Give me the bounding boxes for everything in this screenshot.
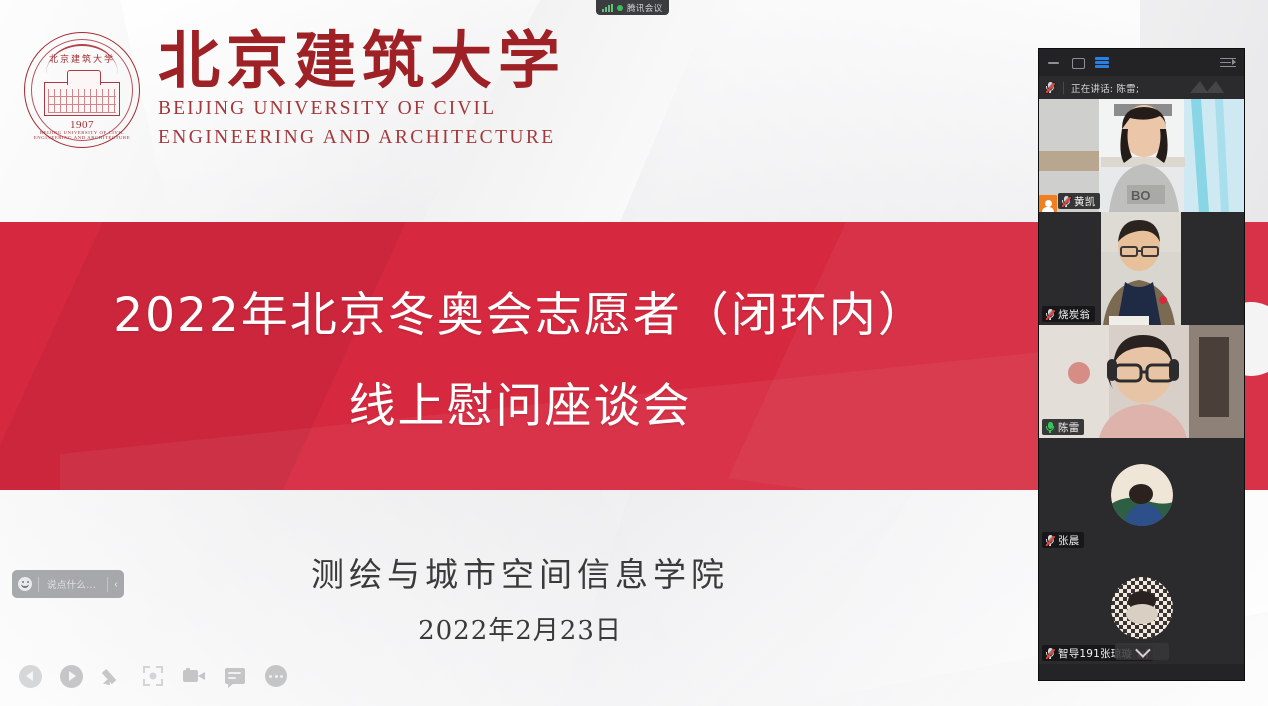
participant-tile-list[interactable]: BO 黄凯 — [1039, 99, 1244, 680]
slide-footer-block: 测绘与城市空间信息学院 2022年2月23日 — [0, 548, 1040, 647]
participant-name: 陈雷 — [1058, 420, 1079, 435]
divider — [1063, 82, 1064, 94]
pen-icon — [102, 666, 122, 686]
signal-bars-icon — [602, 4, 613, 12]
wordmark-en-line2: ENGINEERING AND ARCHITECTURE — [158, 126, 566, 151]
screen-root: 北京建筑大学 1907 BEIJING UNIVERSITY OF CIVIL … — [0, 0, 1268, 706]
minimize-icon[interactable] — [1047, 56, 1060, 69]
participant-tile[interactable]: 张晨 — [1039, 438, 1244, 551]
laser-focus-button[interactable] — [141, 664, 165, 688]
host-badge — [1039, 195, 1057, 212]
more-options-button[interactable] — [264, 664, 288, 688]
crest-en-text: BEIJING UNIVERSITY OF CIVIL ENGINEERING … — [21, 130, 143, 140]
slide-footer-date: 2022年2月23日 — [418, 610, 622, 647]
mic-muted-icon — [1045, 308, 1055, 320]
app-badge-label: 腾讯会议 — [627, 2, 663, 14]
meeting-panel: 正在讲话: 陈雷; — [1039, 49, 1244, 680]
university-crest-icon: 北京建筑大学 1907 BEIJING UNIVERSITY OF CIVIL … — [22, 30, 142, 150]
mic-muted-icon — [1045, 647, 1055, 659]
chat-button[interactable] — [223, 664, 247, 688]
participant-name: 烧炭翁 — [1058, 307, 1090, 322]
chat-input-placeholder[interactable]: 说点什么... — [39, 577, 107, 591]
meeting-panel-titlebar — [1039, 49, 1244, 76]
university-wordmark: 北京建筑大学 BEIJING UNIVERSITY OF CIVIL ENGIN… — [158, 28, 566, 151]
green-status-dot-icon — [617, 5, 623, 11]
slide-chat-input-bar[interactable]: 说点什么... ‹ — [12, 570, 124, 598]
mic-muted-icon — [1061, 195, 1071, 207]
mic-on-icon — [1045, 421, 1055, 433]
ellipsis-icon — [265, 665, 287, 687]
smiley-icon[interactable] — [12, 577, 38, 591]
triangle-right-icon — [60, 665, 83, 688]
crest-cn-text: 北京建筑大学 — [22, 52, 142, 65]
video-camera-icon — [183, 669, 205, 683]
university-logo: 北京建筑大学 1907 BEIJING UNIVERSITY OF CIVIL … — [22, 28, 566, 151]
participant-name: 张晨 — [1058, 533, 1079, 548]
speaker-wave-icon — [1188, 79, 1230, 95]
pen-tool-button[interactable] — [100, 664, 124, 688]
avatar — [1111, 464, 1173, 526]
slide-title-line2: 线上慰问座谈会 — [349, 367, 692, 436]
participant-tile[interactable]: 烧炭翁 — [1039, 212, 1244, 325]
svg-text:BO: BO — [1131, 188, 1151, 203]
chevron-down-icon[interactable] — [1115, 643, 1169, 660]
camera-button[interactable] — [182, 664, 206, 688]
prev-slide-button[interactable] — [18, 664, 42, 688]
focus-target-icon — [143, 666, 163, 686]
chevron-left-icon[interactable]: ‹ — [108, 579, 124, 590]
mic-muted-icon — [1045, 81, 1056, 94]
triangle-left-icon — [19, 665, 42, 688]
maximize-icon[interactable] — [1071, 56, 1084, 69]
participant-tile[interactable]: BO 黄凯 — [1039, 99, 1244, 212]
active-speaker-bar: 正在讲话: 陈雷; — [1039, 76, 1244, 99]
layout-list-icon[interactable] — [1095, 56, 1109, 69]
active-speaker-label: 正在讲话: 陈雷; — [1071, 81, 1139, 95]
participant-name: 黄凯 — [1074, 194, 1095, 209]
participant-name-chip: 黄凯 — [1058, 193, 1100, 209]
wordmark-cn: 北京建筑大学 — [158, 28, 566, 93]
participant-name-chip: 陈雷 — [1042, 419, 1084, 435]
participant-tile[interactable]: 陈雷 — [1039, 325, 1244, 438]
chat-bubble-icon — [225, 668, 245, 684]
slide-title-block: 2022年北京冬奥会志愿者（闭环内） 线上慰问座谈会 — [0, 222, 1040, 490]
slide-footer-org: 测绘与城市空间信息学院 — [311, 548, 729, 596]
participant-name-chip: 烧炭翁 — [1042, 306, 1095, 322]
next-slide-button[interactable] — [59, 664, 83, 688]
slide-title-line1: 2022年北京冬奥会志愿者（闭环内） — [113, 276, 927, 345]
collapse-panel-icon[interactable] — [1220, 57, 1236, 69]
app-badge[interactable]: 腾讯会议 — [596, 0, 669, 15]
wordmark-en-line1: BEIJING UNIVERSITY OF CIVIL — [158, 97, 566, 122]
mic-muted-icon — [1045, 534, 1055, 546]
participant-name-chip: 张晨 — [1042, 532, 1084, 548]
presentation-toolbar — [18, 664, 288, 688]
avatar — [1111, 577, 1173, 639]
